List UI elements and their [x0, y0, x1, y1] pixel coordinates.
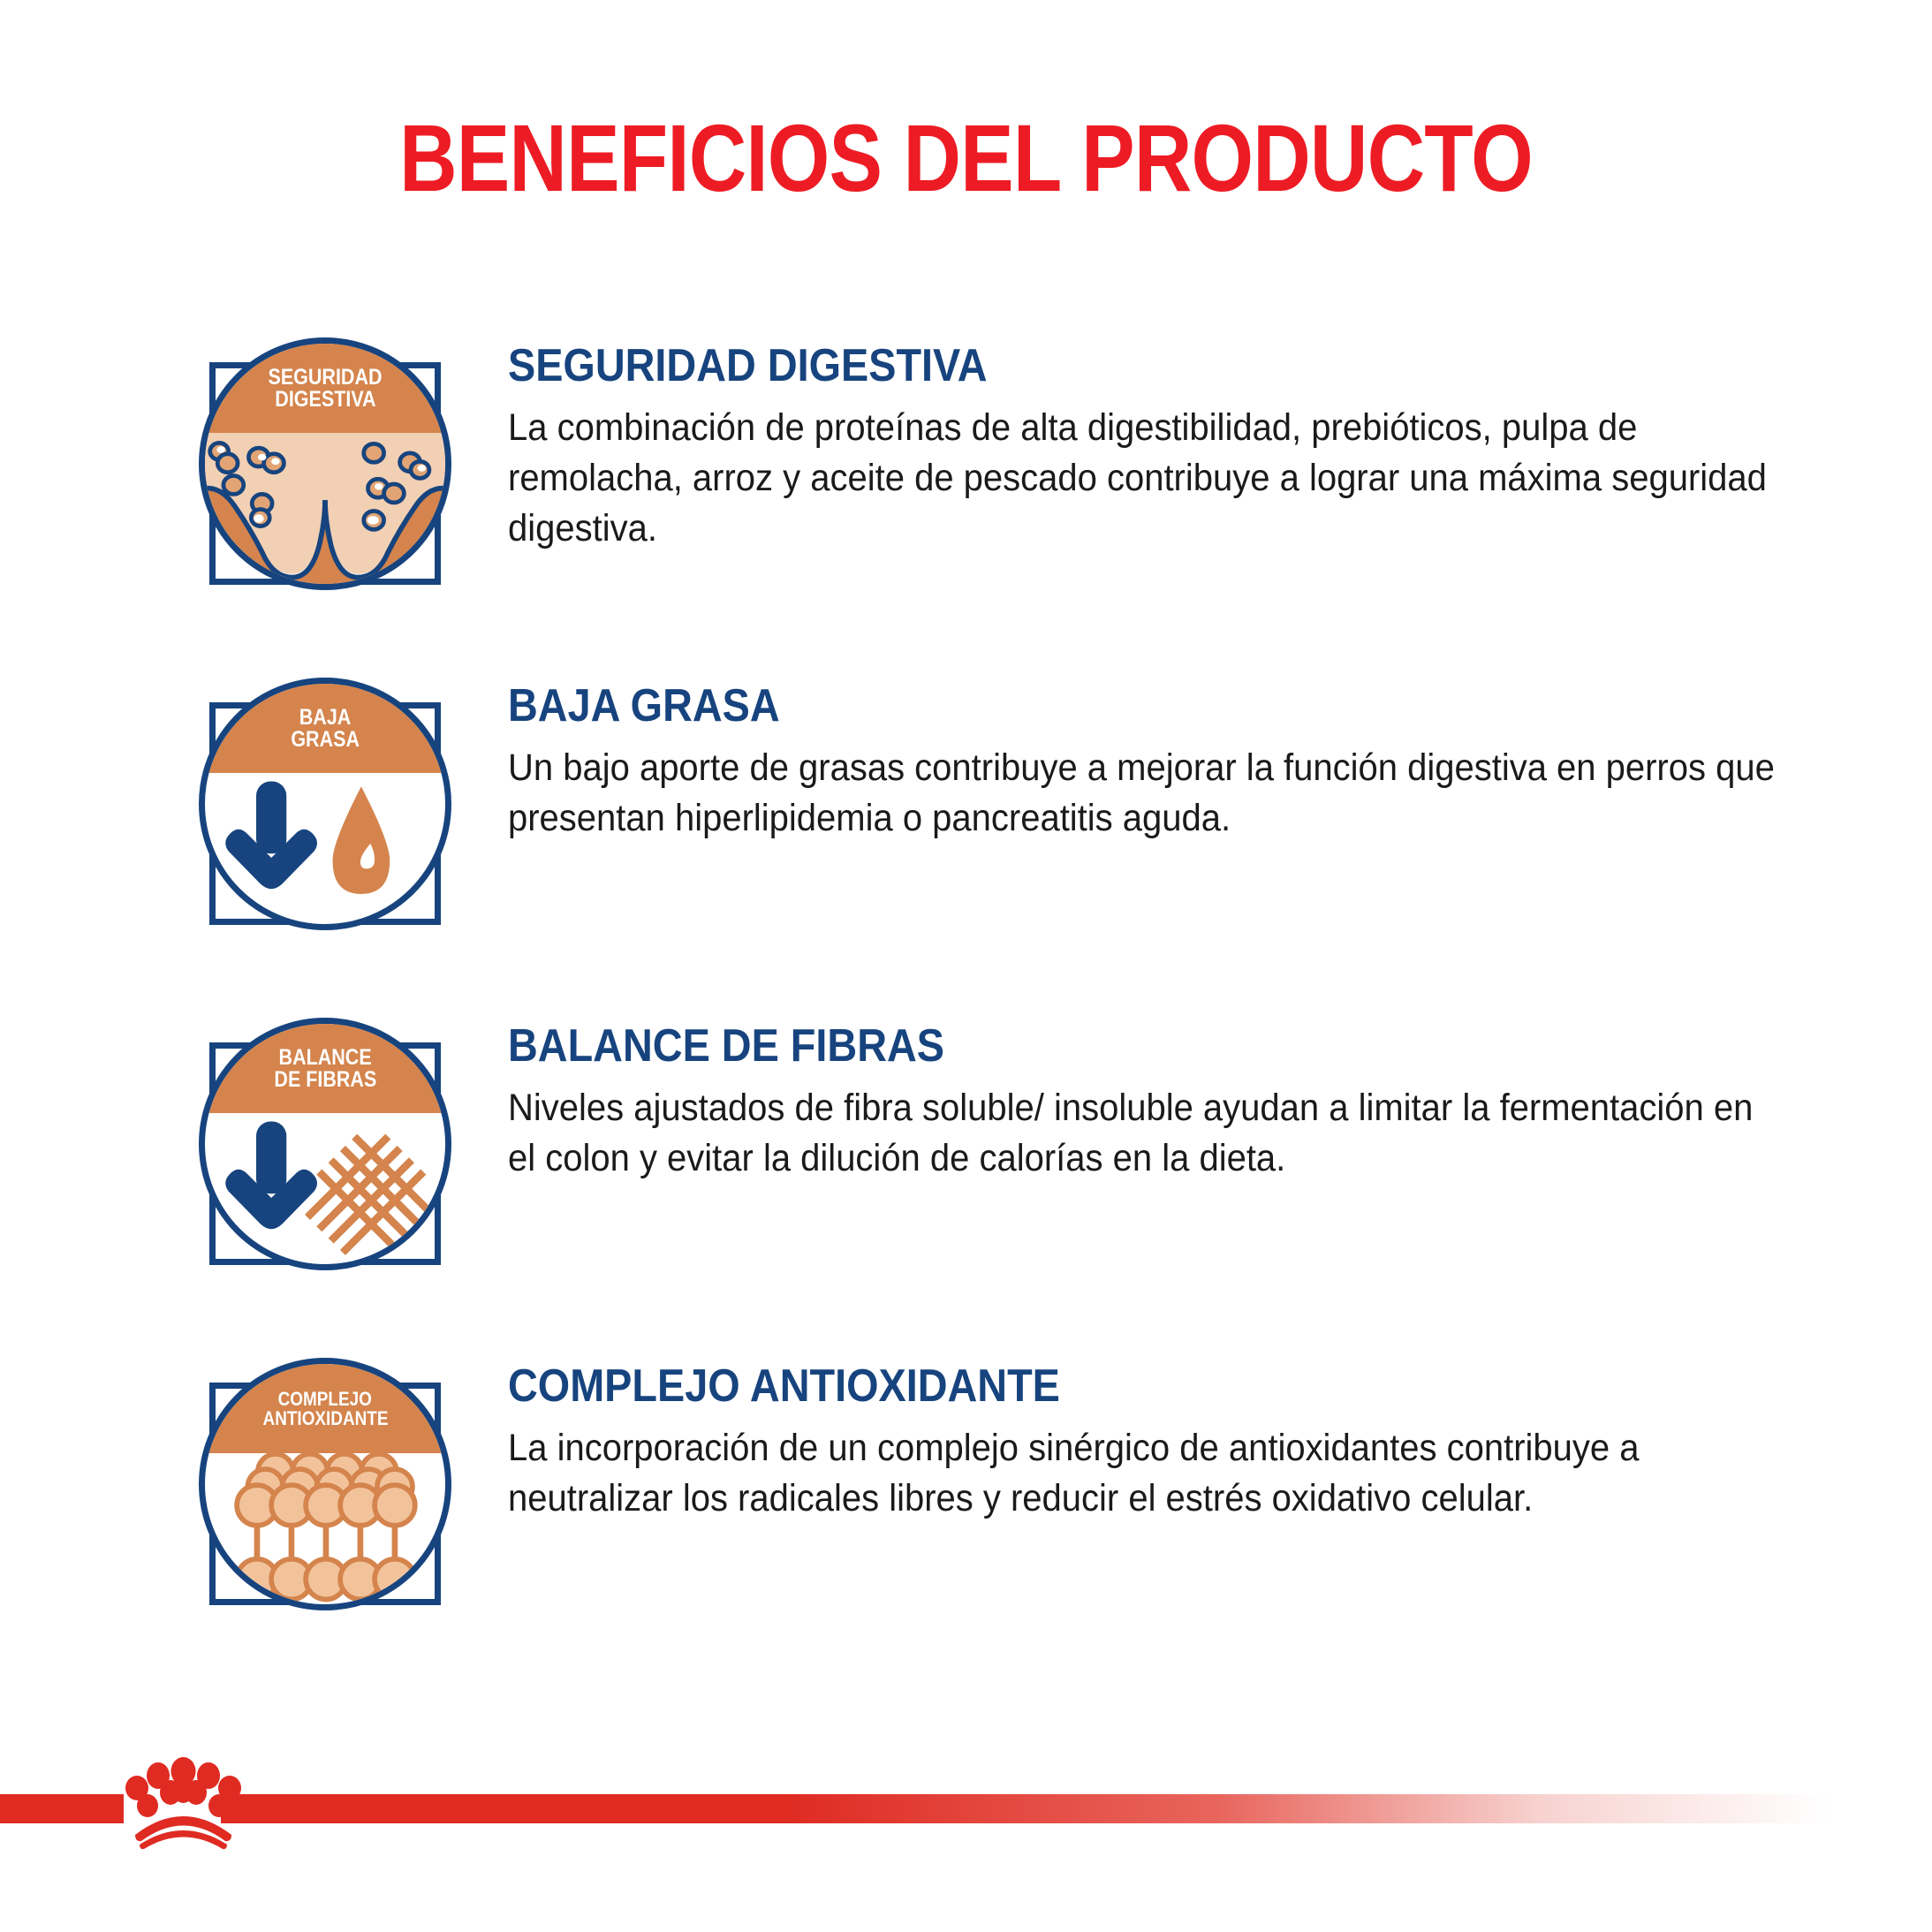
footer-bar-right [221, 1794, 1829, 1823]
badge-line-2: ANTIOXIDANTE [262, 1409, 388, 1428]
icon-badge-label: BALANCE DE FIBRAS [205, 1024, 445, 1113]
benefits-list: SEGURIDAD DIGESTIVA SEGURIDAD DIGESTIVA … [0, 337, 1932, 1649]
icon-badge-label: COMPLEJO ANTIOXIDANTE [205, 1364, 445, 1453]
benefit-heading: BAJA GRASA [508, 683, 1655, 729]
benefit-body: La combinación de proteínas de alta dige… [508, 403, 1782, 553]
product-benefits-page: BENEFICIOS DEL PRODUCTO [0, 0, 1932, 1932]
benefit-item-seguridad-digestiva: SEGURIDAD DIGESTIVA SEGURIDAD DIGESTIVA … [0, 337, 1932, 678]
badge-line-1: BAJA [299, 707, 352, 729]
fiber-weave-icon [205, 1113, 445, 1269]
benefit-text-block: COMPLEJO ANTIOXIDANTE La incorporación d… [464, 1358, 1932, 1524]
benefit-body: Un bajo aporte de grasas contribuye a me… [508, 743, 1782, 844]
benefit-item-complejo-antioxidante: COMPLEJO ANTIOXIDANTE COMPLEJO ANTIOXIDA… [0, 1358, 1932, 1649]
page-title: BENEFICIOS DEL PRODUCTO [155, 110, 1777, 206]
benefit-icon-complejo-antioxidante: COMPLEJO ANTIOXIDANTE [199, 1358, 464, 1623]
footer [0, 1755, 1932, 1932]
badge-line-1: BALANCE [278, 1047, 371, 1069]
benefit-text-block: BALANCE DE FIBRAS Niveles ajustados de f… [464, 1018, 1932, 1184]
badge-line-2: GRASA [291, 729, 360, 751]
benefit-heading: COMPLEJO ANTIOXIDANTE [508, 1363, 1655, 1409]
benefit-item-balance-de-fibras: BALANCE DE FIBRAS BALANCE DE FIBRAS Nive… [0, 1018, 1932, 1358]
benefit-body: La incorporación de un complejo sinérgic… [508, 1423, 1782, 1524]
low-fat-droplet-icon [205, 773, 445, 928]
benefit-heading: SEGURIDAD DIGESTIVA [508, 343, 1655, 389]
benefit-icon-baja-grasa: BAJA GRASA [199, 678, 464, 943]
benefit-text-block: SEGURIDAD DIGESTIVA La combinación de pr… [464, 337, 1932, 553]
intestinal-villi-icon [205, 433, 445, 588]
antioxidant-cell-membrane-icon [205, 1453, 445, 1609]
icon-circle: COMPLEJO ANTIOXIDANTE [199, 1358, 451, 1610]
down-arrow-icon [225, 782, 317, 890]
benefit-icon-balance-de-fibras: BALANCE DE FIBRAS [199, 1018, 464, 1283]
benefit-heading: BALANCE DE FIBRAS [508, 1023, 1655, 1069]
royal-canin-crown-logo [119, 1755, 247, 1852]
benefit-icon-seguridad-digestiva: SEGURIDAD DIGESTIVA [199, 337, 464, 602]
icon-circle: BALANCE DE FIBRAS [199, 1018, 451, 1270]
badge-line-1: SEGURIDAD [268, 367, 382, 389]
benefit-text-block: BAJA GRASA Un bajo aporte de grasas cont… [464, 678, 1932, 844]
icon-circle: BAJA GRASA [199, 678, 451, 930]
benefit-item-baja-grasa: BAJA GRASA BAJA GRASA Un bajo aporte de … [0, 678, 1932, 1018]
badge-line-2: DIGESTIVA [275, 389, 375, 411]
down-arrow-icon [225, 1122, 317, 1230]
badge-line-2: DE FIBRAS [274, 1069, 376, 1091]
icon-badge-label: SEGURIDAD DIGESTIVA [205, 344, 445, 433]
droplet-icon [333, 786, 390, 894]
footer-bar-left [0, 1794, 124, 1823]
icon-badge-label: BAJA GRASA [205, 684, 445, 773]
icon-circle: SEGURIDAD DIGESTIVA [199, 337, 451, 590]
badge-line-1: COMPLEJO [278, 1390, 372, 1409]
benefit-body: Niveles ajustados de fibra soluble/ inso… [508, 1083, 1782, 1184]
crosshatch-weave [307, 1137, 436, 1253]
